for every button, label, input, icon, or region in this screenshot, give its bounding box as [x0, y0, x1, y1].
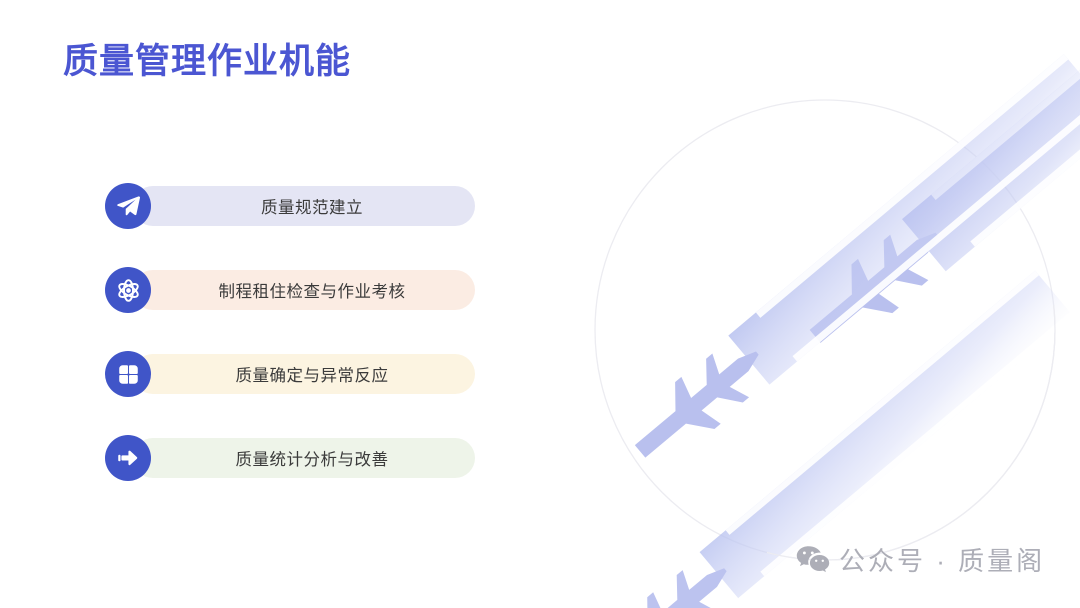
feature-pill[interactable]: 制程租住检查与作业考核: [133, 270, 475, 310]
arrow-right-icon: [105, 435, 151, 481]
feature-pill[interactable]: 质量规范建立: [133, 186, 475, 226]
paper-plane-icon: [105, 183, 151, 229]
feature-label: 质量统计分析与改善: [236, 446, 389, 470]
wechat-icon: [796, 545, 830, 574]
feature-pill[interactable]: 质量统计分析与改善: [133, 438, 475, 478]
feature-label: 质量确定与异常反应: [236, 362, 389, 386]
feature-pill[interactable]: 质量确定与异常反应: [133, 354, 475, 394]
feature-row[interactable]: 质量规范建立: [105, 183, 475, 229]
airplane-illustration: [540, 0, 1080, 608]
feature-label: 质量规范建立: [261, 194, 363, 218]
feature-label: 制程租住检查与作业考核: [219, 278, 406, 302]
atom-icon: [105, 267, 151, 313]
page-title: 质量管理作业机能: [63, 41, 351, 83]
four-petal-icon: [105, 351, 151, 397]
feature-row[interactable]: 质量统计分析与改善: [105, 435, 475, 481]
feature-list: 质量规范建立 制程租住检查与作业考核: [105, 183, 475, 481]
watermark-text: 公众号 · 质量阁: [839, 541, 1045, 578]
feature-row[interactable]: 制程租住检查与作业考核: [105, 267, 475, 313]
watermark: 公众号 · 质量阁: [796, 541, 1045, 578]
feature-row[interactable]: 质量确定与异常反应: [105, 351, 475, 397]
